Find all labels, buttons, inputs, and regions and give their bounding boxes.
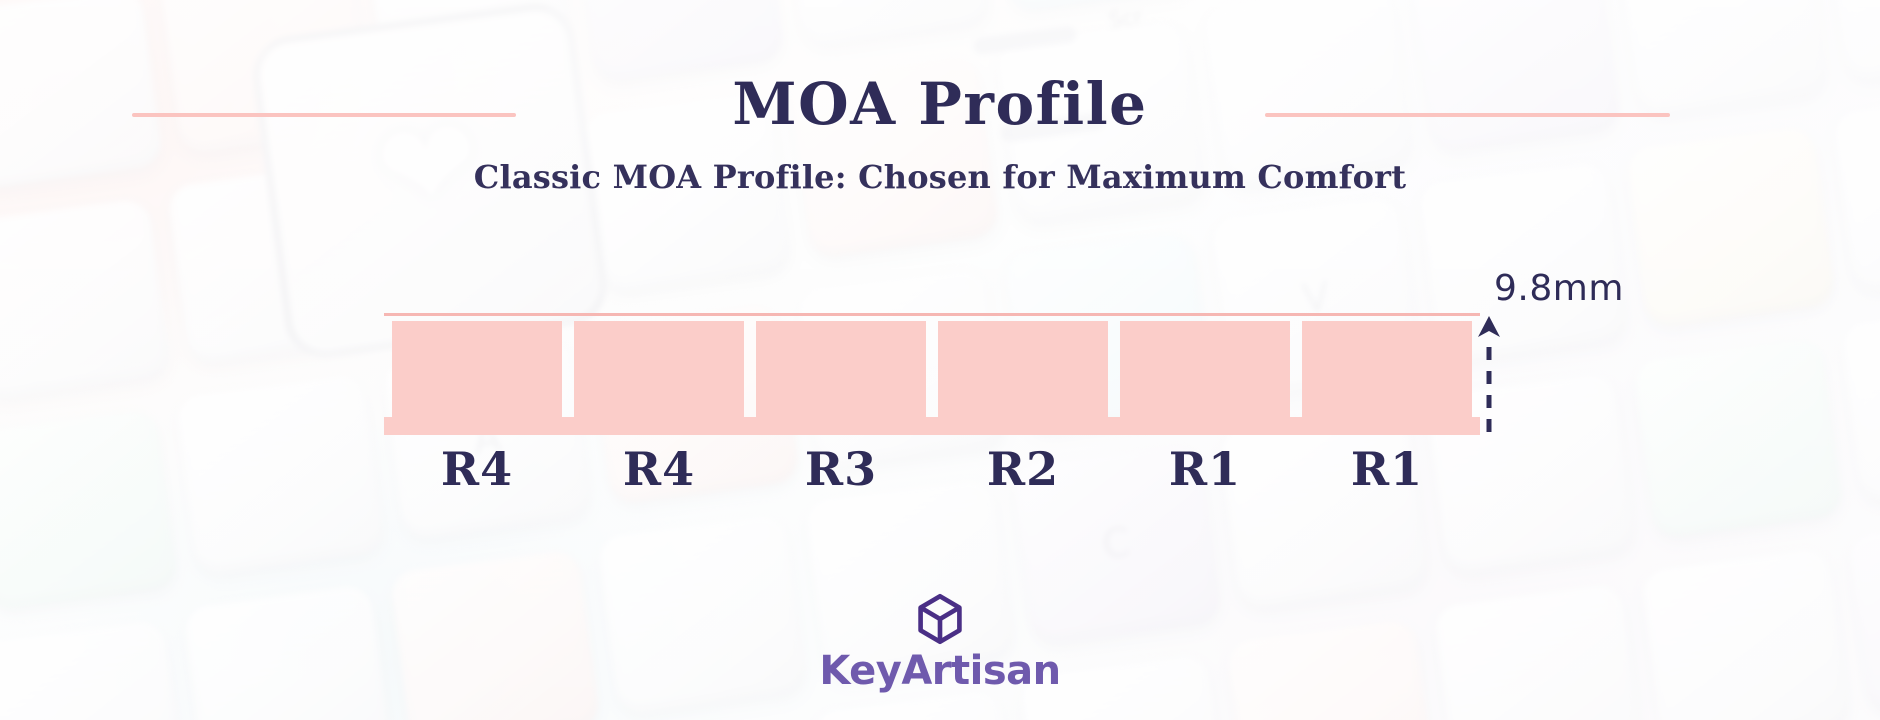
- row-label-r1-a: R1: [1120, 442, 1290, 496]
- hex-cube-icon: [913, 592, 967, 646]
- brand-lockup: KeyArtisan: [0, 592, 1880, 694]
- row-label-r2: R2: [938, 442, 1108, 496]
- row-label-r4-b: R4: [574, 442, 744, 496]
- keycap-shape-r4-a: [392, 321, 562, 435]
- keycap-shape-r2: [938, 321, 1108, 435]
- infographic-canvas: A V X C: [0, 0, 1880, 720]
- row-label-r4-a: R4: [392, 442, 562, 496]
- keycap-shape-r4-b: [574, 321, 744, 435]
- row-label-group: R4 R4 R3 R2 R1 R1: [384, 442, 1480, 498]
- profile-top-guideline: [384, 313, 1480, 316]
- keycap-profile-diagram: [384, 313, 1480, 435]
- height-measurement-label: 9.8mm: [1494, 268, 1624, 309]
- brand-name: KeyArtisan: [819, 648, 1060, 694]
- page-title: MOA Profile: [0, 70, 1880, 138]
- keycap-shape-r3: [756, 321, 926, 435]
- keycap-shape-r1-a: [1120, 321, 1290, 435]
- row-label-r3: R3: [756, 442, 926, 496]
- page-subtitle: Classic MOA Profile: Chosen for Maximum …: [0, 158, 1880, 196]
- height-measurement-arrow-icon: [1476, 312, 1502, 434]
- row-label-r1-b: R1: [1302, 442, 1472, 496]
- keycap-shape-r1-b: [1302, 321, 1472, 435]
